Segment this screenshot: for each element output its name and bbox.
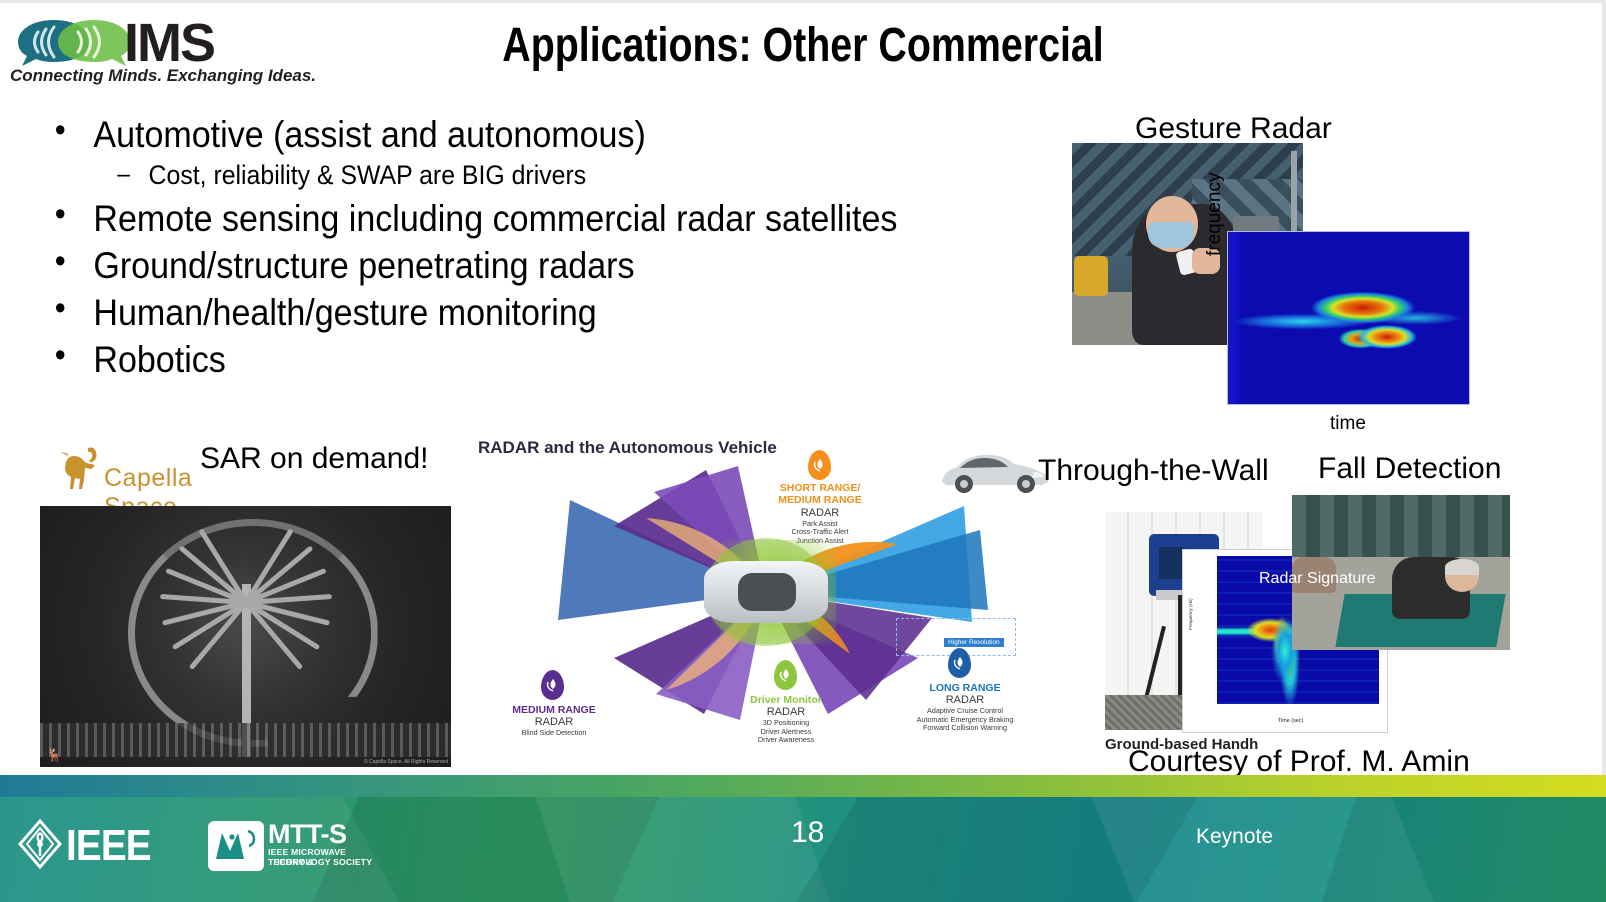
gesture-radar-caption: Gesture Radar: [1135, 112, 1332, 146]
spectrogram-y-label: frequency: [1204, 173, 1226, 256]
vehicle-top-view: [704, 561, 828, 623]
through-the-wall-caption: Through-the-Wall: [1038, 454, 1269, 488]
car-photo-icon: [934, 444, 1052, 496]
medium-range-feature: Blind Side Detection: [496, 729, 612, 737]
medium-range-pin-icon: [541, 670, 564, 700]
gesture-spectrogram: [1227, 231, 1470, 405]
capella-space-logo: Capella Space: [58, 444, 248, 500]
ieee-logo: IEEE: [18, 819, 178, 875]
bullet-subitem: Cost, reliability & SWAP are BIG drivers: [40, 159, 988, 192]
slide-right-border: [1602, 0, 1606, 902]
short-range-label: SHORT RANGE/ MEDIUM RANGE RADAR Park Ass…: [770, 482, 870, 545]
short-range-title: SHORT RANGE/: [770, 482, 870, 494]
ibex-icon: [58, 444, 104, 494]
medium-range-title: MEDIUM RANGE: [496, 704, 612, 716]
courtesy-caption: Courtesy of Prof. M. Amin: [1128, 745, 1470, 779]
speech-bubbles-icon: [12, 16, 137, 68]
person-hair: [1445, 559, 1479, 575]
coastal-development: [40, 723, 451, 757]
bullet-item: Ground/structure penetrating radars: [40, 243, 988, 288]
spectrogram-data: [1228, 232, 1469, 404]
ieee-diamond-icon: [18, 819, 62, 869]
short-range-title2: MEDIUM RANGE: [770, 494, 870, 506]
mtts-wordmark: MTT-S: [268, 819, 347, 850]
sar-watermark: © Capella Space. All Rights Reserved: [364, 759, 448, 765]
bullet-item: Remote sensing including commercial rada…: [40, 196, 988, 241]
sar-satellite-image: 🦌 © Capella Space. All Rights Reserved: [40, 506, 451, 767]
medium-range-label: MEDIUM RANGE RADAR Blind Side Detection: [496, 704, 612, 738]
driver-monitor-label: Driver Monitor RADAR 3D Positioning Driv…: [730, 694, 842, 745]
long-range-feature: Forward Collision Warning: [892, 724, 1038, 732]
automotive-radar-diagram: RADAR and the Autonomous Vehicle: [478, 432, 1054, 752]
higher-resolution-tag: Higher Resolution: [944, 638, 1004, 647]
driver-monitor-title: Driver Monitor: [730, 694, 842, 706]
mtts-logo: MTT-S IEEE MICROWAVE THEORY & TECHNOLOGY…: [208, 821, 378, 877]
bullet-item: Human/health/gesture monitoring: [40, 290, 988, 335]
capella-watermark-icon: 🦌: [46, 747, 62, 763]
slide-top-border: [0, 0, 1606, 3]
chair: [1074, 256, 1108, 296]
page-title: Applications: Other Commercial: [145, 18, 1462, 73]
short-range-type: RADAR: [770, 507, 870, 520]
page-number: 18: [791, 816, 824, 850]
long-range-pin-icon: [948, 648, 971, 678]
mtts-subtitle-line2: TECHNOLOGY SOCIETY: [268, 857, 372, 867]
short-range-pin-icon: [808, 450, 831, 480]
face-mask: [1148, 222, 1194, 248]
bullet-list: Automotive (assist and autonomous) Cost,…: [40, 112, 1070, 385]
radar-signature-title: Radar Signature: [1259, 570, 1376, 588]
driver-monitor-feature: Driver Awareness: [730, 736, 842, 744]
radar-screen: [1159, 547, 1185, 579]
ieee-wordmark: IEEE: [66, 821, 151, 871]
mtts-icon-box: [208, 821, 264, 871]
slide: IMS Connecting Minds. Exchanging Ideas. …: [0, 0, 1606, 902]
radar-signature-x-label: Time (sec): [1278, 718, 1303, 724]
fall-detection-caption: Fall Detection: [1318, 452, 1501, 486]
mtts-monogram-icon: [208, 821, 264, 871]
spectrogram-x-label: time: [1330, 413, 1366, 435]
anechoic-absorbers: [1292, 495, 1510, 557]
vehicle-cabin: [738, 573, 796, 611]
bullet-item: Automotive (assist and autonomous): [40, 112, 988, 157]
radar-signature-y-label: Frequency (Hz): [1188, 598, 1193, 630]
driver-monitor-pin-icon: [774, 660, 797, 690]
session-label: Keynote: [1196, 825, 1273, 849]
long-range-title: LONG RANGE: [892, 682, 1038, 694]
footer-accent-bar: [0, 775, 1606, 797]
bullet-item: Robotics: [40, 337, 988, 382]
long-range-label: LONG RANGE RADAR Adaptive Cruise Control…: [892, 682, 1038, 733]
